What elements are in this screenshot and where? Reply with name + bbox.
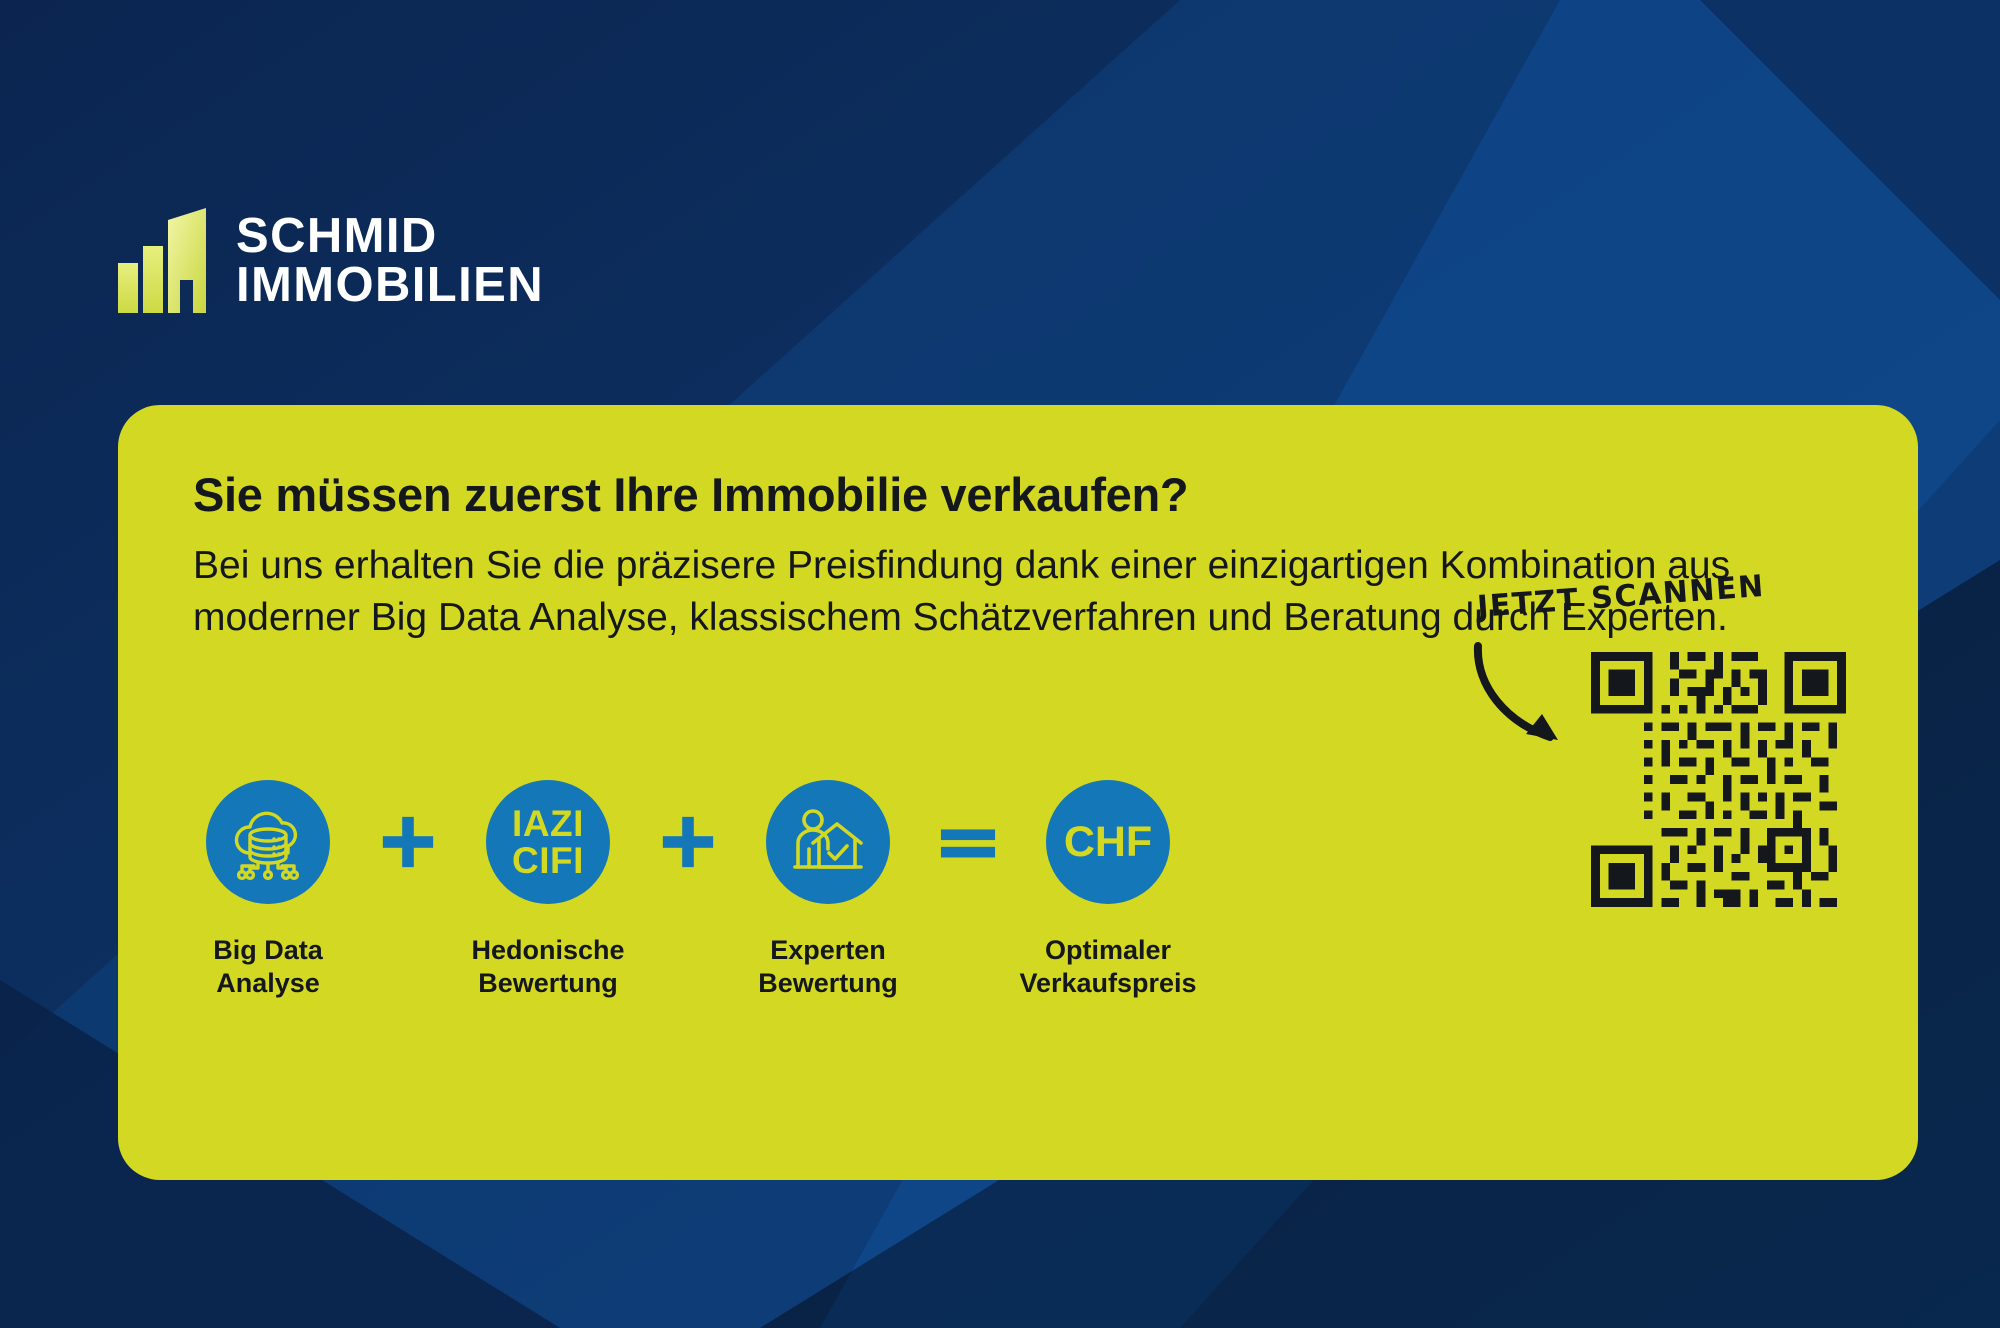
iazi-cifi-wordmark: IAZI CIFI — [512, 805, 584, 879]
page-title: Sie müssen zuerst Ihre Immobilie verkauf… — [193, 467, 1188, 522]
qr-call-to-action: JETZT SCANNEN — [1466, 590, 1846, 1020]
equals-operator — [918, 780, 1018, 904]
chf-circle: CHF — [1046, 780, 1170, 904]
value-formula-row: Big Data Analyse IAZI CIFI Hedonische Be… — [178, 780, 1198, 1000]
expert-circle — [766, 780, 890, 904]
plus-icon — [659, 813, 717, 871]
formula-caption-hedonic: Hedonische Bewertung — [471, 934, 624, 1000]
chf-currency-icon: CHF — [1064, 821, 1152, 864]
expert-house-check-icon — [785, 799, 871, 885]
cloud-database-icon — [225, 799, 311, 885]
formula-caption-expert: Experten Bewertung — [758, 934, 898, 1000]
equals-icon — [939, 813, 997, 871]
brand-name-line2: IMMOBILIEN — [236, 261, 544, 309]
iazi-cifi-circle: IAZI CIFI — [486, 780, 610, 904]
formula-item-expert: Experten Bewertung — [738, 780, 918, 1000]
brand-name-line1: SCHMID — [236, 212, 544, 260]
formula-caption-price: Optimaler Verkaufspreis — [1019, 934, 1196, 1000]
formula-item-hedonic: IAZI CIFI Hedonische Bewertung — [458, 780, 638, 1000]
building-bars-icon — [118, 208, 210, 313]
curved-arrow-down-right-icon — [1466, 638, 1596, 763]
qr-code[interactable] — [1591, 652, 1846, 907]
brand-name: SCHMID IMMOBILIEN — [236, 212, 544, 308]
promo-card: Sie müssen zuerst Ihre Immobilie verkauf… — [118, 405, 1918, 1180]
plus-operator-1 — [358, 780, 458, 904]
formula-caption-big-data: Big Data Analyse — [213, 934, 323, 1000]
formula-item-price: CHF Optimaler Verkaufspreis — [1018, 780, 1198, 1000]
big-data-circle — [206, 780, 330, 904]
plus-operator-2 — [638, 780, 738, 904]
plus-icon — [379, 813, 437, 871]
brand-logo: SCHMID IMMOBILIEN — [118, 208, 544, 313]
formula-item-big-data: Big Data Analyse — [178, 780, 358, 1000]
